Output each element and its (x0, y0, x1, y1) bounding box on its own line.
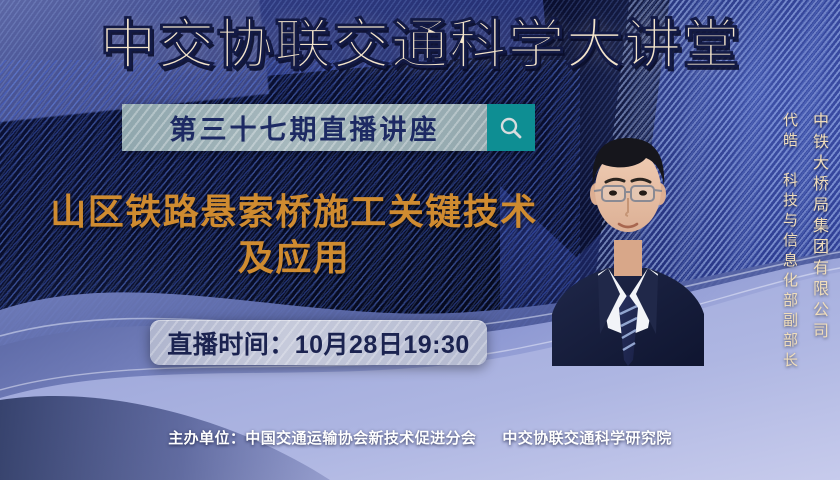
lecture-title-line-1: 山区铁路悬索桥施工关键技术 (50, 192, 538, 233)
search-icon (498, 115, 524, 141)
search-button[interactable] (487, 104, 535, 151)
broadcast-time-text: 直播时间：10月28日19:30 (167, 325, 470, 361)
footer-organizer-1: 中国交通运输协会新技术促进分会 (245, 430, 476, 447)
footer-organizers: 主办单位：中国交通运输协会新技术促进分会中交协联交通科学研究院 (0, 427, 840, 448)
livestream-poster: 中交协联交通科学大讲堂 第三十七期直播讲座 山区铁路悬索桥施工关键技术 及应用 … (0, 0, 840, 480)
speaker-info: 代皓 科技与信息化部副部长 中铁大桥局集团有限公司 (779, 112, 828, 372)
lecture-title-line-2: 及应用 (24, 236, 564, 282)
episode-label: 第三十七期直播讲座 (170, 108, 440, 147)
episode-banner[interactable]: 第三十七期直播讲座 (122, 104, 535, 151)
page-title: 中交协联交通科学大讲堂 (0, 14, 840, 76)
footer-organizer-2: 中交协联交通科学研究院 (502, 430, 671, 447)
episode-label-box: 第三十七期直播讲座 (122, 104, 487, 151)
speaker-portrait (540, 98, 715, 366)
speaker-name-and-role: 代皓 科技与信息化部副部长 (779, 112, 798, 372)
broadcast-time-badge: 直播时间：10月28日19:30 (150, 320, 487, 365)
lecture-title: 山区铁路悬索桥施工关键技术 及应用 (24, 190, 564, 282)
speaker-organization: 中铁大桥局集团有限公司 (808, 112, 828, 343)
footer-label: 主办单位： (168, 430, 245, 447)
